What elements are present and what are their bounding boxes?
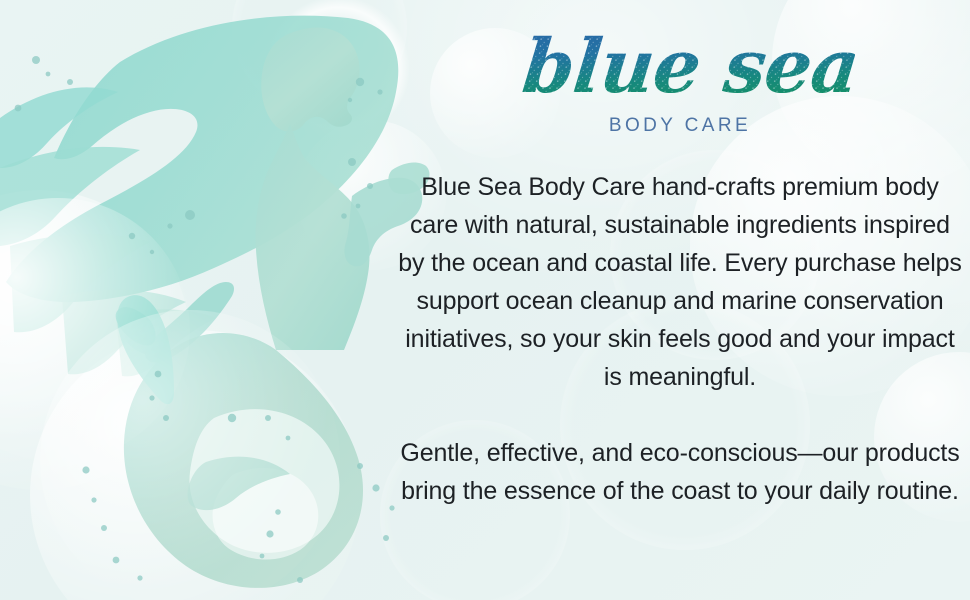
svg-text:blue sea: blue sea <box>519 23 855 110</box>
brand-subtitle: BODY CARE <box>390 115 970 137</box>
description-copy: Blue Sea Body Care hand-crafts premium b… <box>398 168 962 510</box>
mermaid-illustration <box>0 0 430 600</box>
paragraph-2: Gentle, effective, and eco-conscious—our… <box>398 434 962 510</box>
paragraph-1: Blue Sea Body Care hand-crafts premium b… <box>398 168 962 396</box>
content-column: blue sea blue sea BODY CARE Blue Sea Bod… <box>390 0 970 600</box>
promo-banner: blue sea blue sea BODY CARE Blue Sea Bod… <box>0 0 970 600</box>
blue-sea-script-logo: blue sea blue sea <box>505 16 855 121</box>
brand-logo: blue sea blue sea BODY CARE <box>390 16 970 137</box>
